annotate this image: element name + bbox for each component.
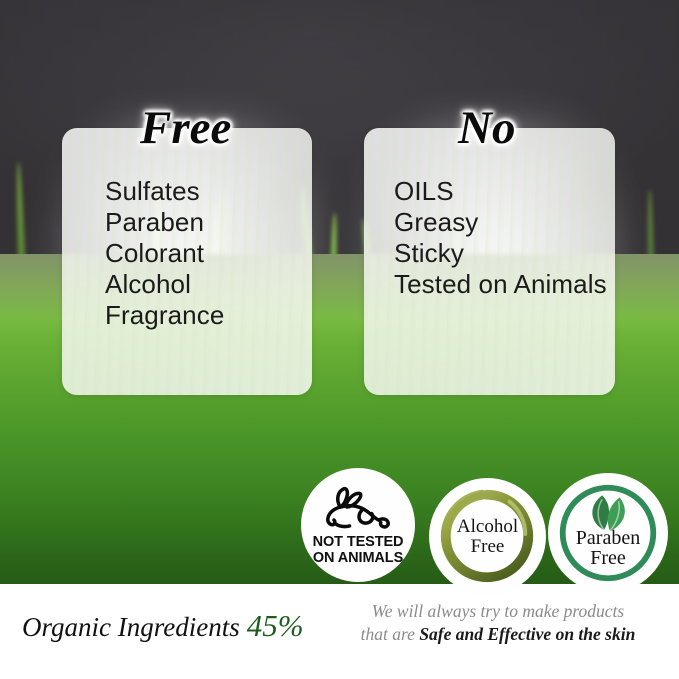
badge-cruelty-label: NOT TESTED ON ANIMALS xyxy=(313,535,404,566)
rabbit-icon xyxy=(319,486,397,532)
tagline-line1: We will always try to make products xyxy=(333,600,663,623)
tagline-line2: that are Safe and Effective on the skin xyxy=(333,623,663,646)
organic-percent: 45% xyxy=(247,608,304,643)
card-no-heading: No xyxy=(458,101,515,155)
tagline: We will always try to make products that… xyxy=(333,600,663,646)
list-item: OILS xyxy=(394,176,609,207)
list-item: Alcohol xyxy=(105,269,306,300)
badge-cruelty-line1: NOT TESTED xyxy=(313,534,404,550)
card-no: OILS Greasy Sticky Tested on Animals xyxy=(364,128,615,395)
tagline-line2-prefix: that are xyxy=(361,624,420,644)
tagline-line2-strong: Safe and Effective on the skin xyxy=(419,624,635,644)
organic-label: Organic Ingredients xyxy=(22,612,240,642)
list-item: Greasy xyxy=(394,207,609,238)
list-item: Sulfates xyxy=(105,176,306,207)
list-item: Paraben xyxy=(105,207,306,238)
organic-ingredients-line: Organic Ingredients45% xyxy=(22,608,304,644)
list-item: Sticky xyxy=(394,238,609,269)
card-free-heading: Free xyxy=(140,101,231,155)
badge-cruelty-line2: ON ANIMALS xyxy=(313,550,403,566)
list-item: Colorant xyxy=(105,238,306,269)
infographic-canvas: Sulfates Paraben Colorant Alcohol Fragra… xyxy=(0,0,679,679)
card-free-list: Sulfates Paraben Colorant Alcohol Fragra… xyxy=(105,176,306,331)
